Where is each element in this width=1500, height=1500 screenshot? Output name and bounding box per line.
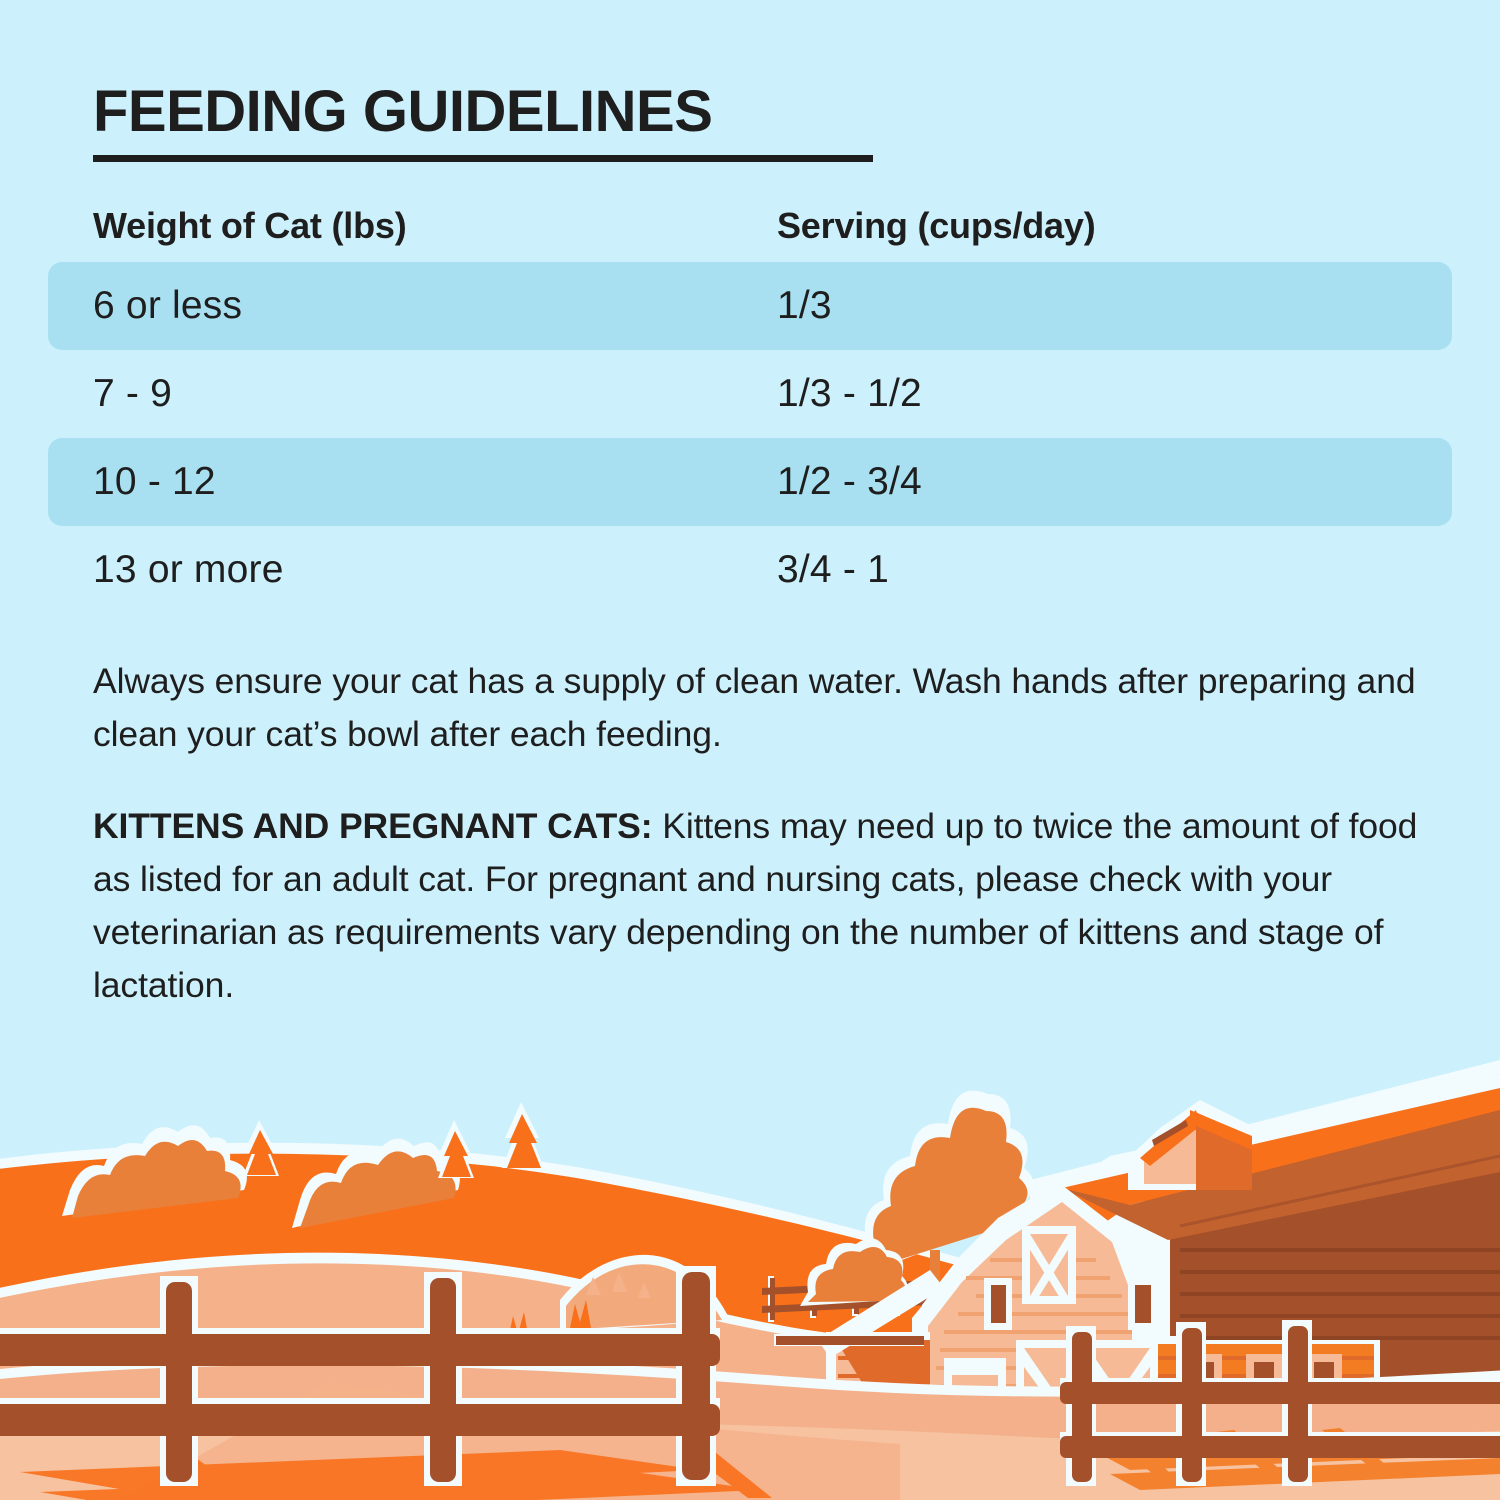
cell-serving: 1/3 - 1/2 xyxy=(777,372,922,416)
barn-upper-window-left xyxy=(984,1278,1012,1330)
kittens-note-label: KITTENS AND PREGNANT CATS: xyxy=(93,806,652,846)
barn-upper-window-right xyxy=(1128,1278,1158,1330)
kittens-note-paragraph: KITTENS AND PREGNANT CATS: Kittens may n… xyxy=(93,800,1423,1012)
water-note-paragraph: Always ensure your cat has a supply of c… xyxy=(93,655,1423,761)
mid-fence-segment xyxy=(774,1334,924,1346)
cell-serving: 1/3 xyxy=(777,284,832,328)
feeding-table: Weight of Cat (lbs) Serving (cups/day) 6… xyxy=(0,190,1500,614)
column-header-weight: Weight of Cat (lbs) xyxy=(93,205,407,247)
barn-hayloft-door xyxy=(1022,1226,1076,1304)
table-row: 10 - 12 1/2 - 3/4 xyxy=(0,438,1500,526)
cell-weight: 6 or less xyxy=(93,284,242,328)
cell-serving: 1/2 - 3/4 xyxy=(777,460,922,504)
column-header-serving: Serving (cups/day) xyxy=(777,205,1095,247)
row-band xyxy=(48,350,1452,438)
page-title: FEEDING GUIDELINES xyxy=(93,78,712,145)
row-band xyxy=(48,262,1452,350)
cell-weight: 7 - 9 xyxy=(93,372,172,416)
farm-illustration xyxy=(0,1040,1500,1500)
table-row: 6 or less 1/3 xyxy=(0,262,1500,350)
cell-serving: 3/4 - 1 xyxy=(777,548,889,592)
cell-weight: 10 - 12 xyxy=(93,460,216,504)
feeding-guidelines-panel: FEEDING GUIDELINES Weight of Cat (lbs) S… xyxy=(0,0,1500,1500)
title-underline xyxy=(93,155,873,162)
row-band xyxy=(48,438,1452,526)
cell-weight: 13 or more xyxy=(93,548,284,592)
table-row: 13 or more 3/4 - 1 xyxy=(0,526,1500,614)
table-row: 7 - 9 1/3 - 1/2 xyxy=(0,350,1500,438)
table-header-row: Weight of Cat (lbs) Serving (cups/day) xyxy=(0,190,1500,262)
